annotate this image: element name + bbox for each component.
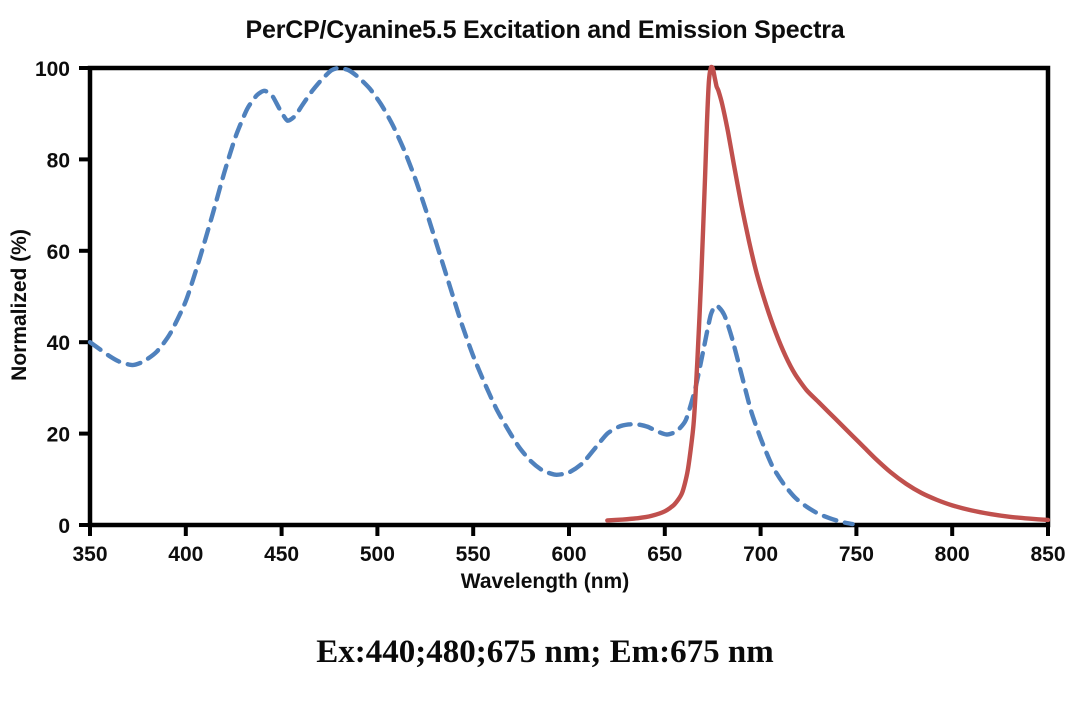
axis-ticks [79,68,1048,536]
x-tick-label: 500 [360,543,395,566]
x-tick-label: 750 [839,543,874,566]
chart-caption: Ex:440;480;675 nm; Em:675 nm [0,634,1090,671]
x-tick-label: 850 [1030,543,1065,566]
x-tick-label: 350 [72,543,107,566]
y-tick-label: 20 [47,424,70,447]
x-tick-label: 550 [456,543,491,566]
x-tick-label: 450 [264,543,299,566]
y-tick-label: 0 [58,515,70,538]
x-tick-label: 800 [935,543,970,566]
y-axis-title: Normalized (%) [8,229,31,381]
x-axis-title: Wavelength (nm) [461,570,629,593]
emission-curve [607,67,1048,520]
spectra-plot: 3504004505005506006507007508008500204060… [0,0,1090,703]
y-tick-label: 60 [47,241,70,264]
x-tick-label: 400 [168,543,203,566]
excitation-curve [90,68,853,524]
x-tick-label: 700 [743,543,778,566]
chart-page: PerCP/Cyanine5.5 Excitation and Emission… [0,0,1090,703]
x-tick-label: 600 [551,543,586,566]
axis-tick-labels: 3504004505005506006507007508008500204060… [35,58,1066,566]
spectra-curves [90,67,1048,524]
y-tick-label: 100 [35,58,70,81]
y-tick-label: 80 [47,149,70,172]
y-tick-label: 40 [47,332,70,355]
x-tick-label: 650 [647,543,682,566]
